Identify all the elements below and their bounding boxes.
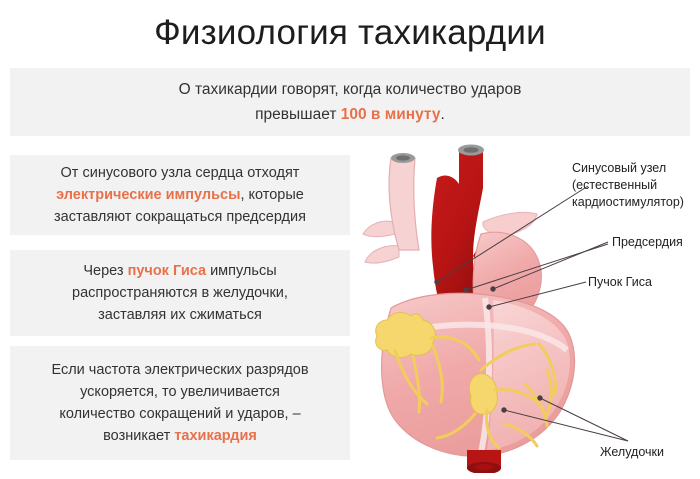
step-box-tachycardia: Если частота электрических разрядов уско…	[10, 346, 350, 460]
header-highlight-bpm: 100 в минуту	[341, 106, 441, 123]
step-box-sinus-impulses: От синусового узла сердца отходят электр…	[10, 155, 350, 235]
step-3-line-4-prefix: возникает	[103, 428, 174, 444]
step-3-line-2: ускоряется, то увеличивается	[80, 384, 280, 400]
vessel-opening-top	[458, 145, 484, 156]
pulmonary-vessels-group	[363, 158, 419, 263]
vessel-opening-left	[391, 153, 415, 163]
step-2-text: Через пучок Гиса импульсы распространяют…	[60, 260, 300, 326]
step-2-highlight-bundle-of-his: пучок Гиса	[128, 263, 206, 279]
callout-atria: Предсердия	[612, 234, 683, 251]
callout-sinus-node: Синусовый узел (естественный кардиостиму…	[572, 160, 684, 211]
step-3-text: Если частота электрических разрядов уско…	[39, 359, 320, 447]
header-statement-text: О тахикардии говорят, когда количество у…	[167, 77, 534, 127]
descending-vessel-stump	[467, 450, 501, 473]
step-3-highlight-tachycardia: тахикардия	[174, 428, 257, 444]
step-2-line-1-prefix: Через	[83, 263, 127, 279]
infographic-page: Физиология тахикардии О тахикардии говор…	[0, 0, 700, 479]
step-2-line-2: распространяются в желудочки,	[72, 285, 288, 301]
step-1-text: От синусового узла сердца отходят электр…	[42, 162, 318, 228]
header-line-2-prefix: превышает	[255, 106, 341, 123]
bundle-of-his-node	[469, 374, 497, 415]
step-1-line-2-suffix: , которые	[240, 187, 303, 203]
step-1-line-3: заставляют сокращаться предсердия	[54, 209, 306, 225]
header-line-1: О тахикардии говорят, когда количество у…	[179, 81, 522, 98]
header-statement-box: О тахикардии говорят, когда количество у…	[10, 68, 690, 136]
step-3-line-1: Если частота электрических разрядов	[51, 362, 308, 378]
step-2-line-3: заставляя их сжиматься	[98, 307, 262, 323]
page-title: Физиология тахикардии	[0, 12, 700, 54]
step-box-bundle-of-his: Через пучок Гиса импульсы распространяют…	[10, 250, 350, 336]
step-1-highlight-electrical-impulses: электрические импульсы	[56, 187, 240, 203]
callout-bundle-of-his: Пучок Гиса	[588, 274, 652, 291]
header-line-2-suffix: .	[441, 106, 445, 123]
step-1-line-1: От синусового узла сердца отходят	[61, 165, 300, 181]
step-2-line-1-suffix: импульсы	[206, 263, 277, 279]
callout-ventricles: Желудочки	[600, 444, 664, 461]
heart-anatomy-illustration	[355, 138, 605, 473]
step-3-line-3: количество сокращений и ударов, –	[59, 406, 300, 422]
